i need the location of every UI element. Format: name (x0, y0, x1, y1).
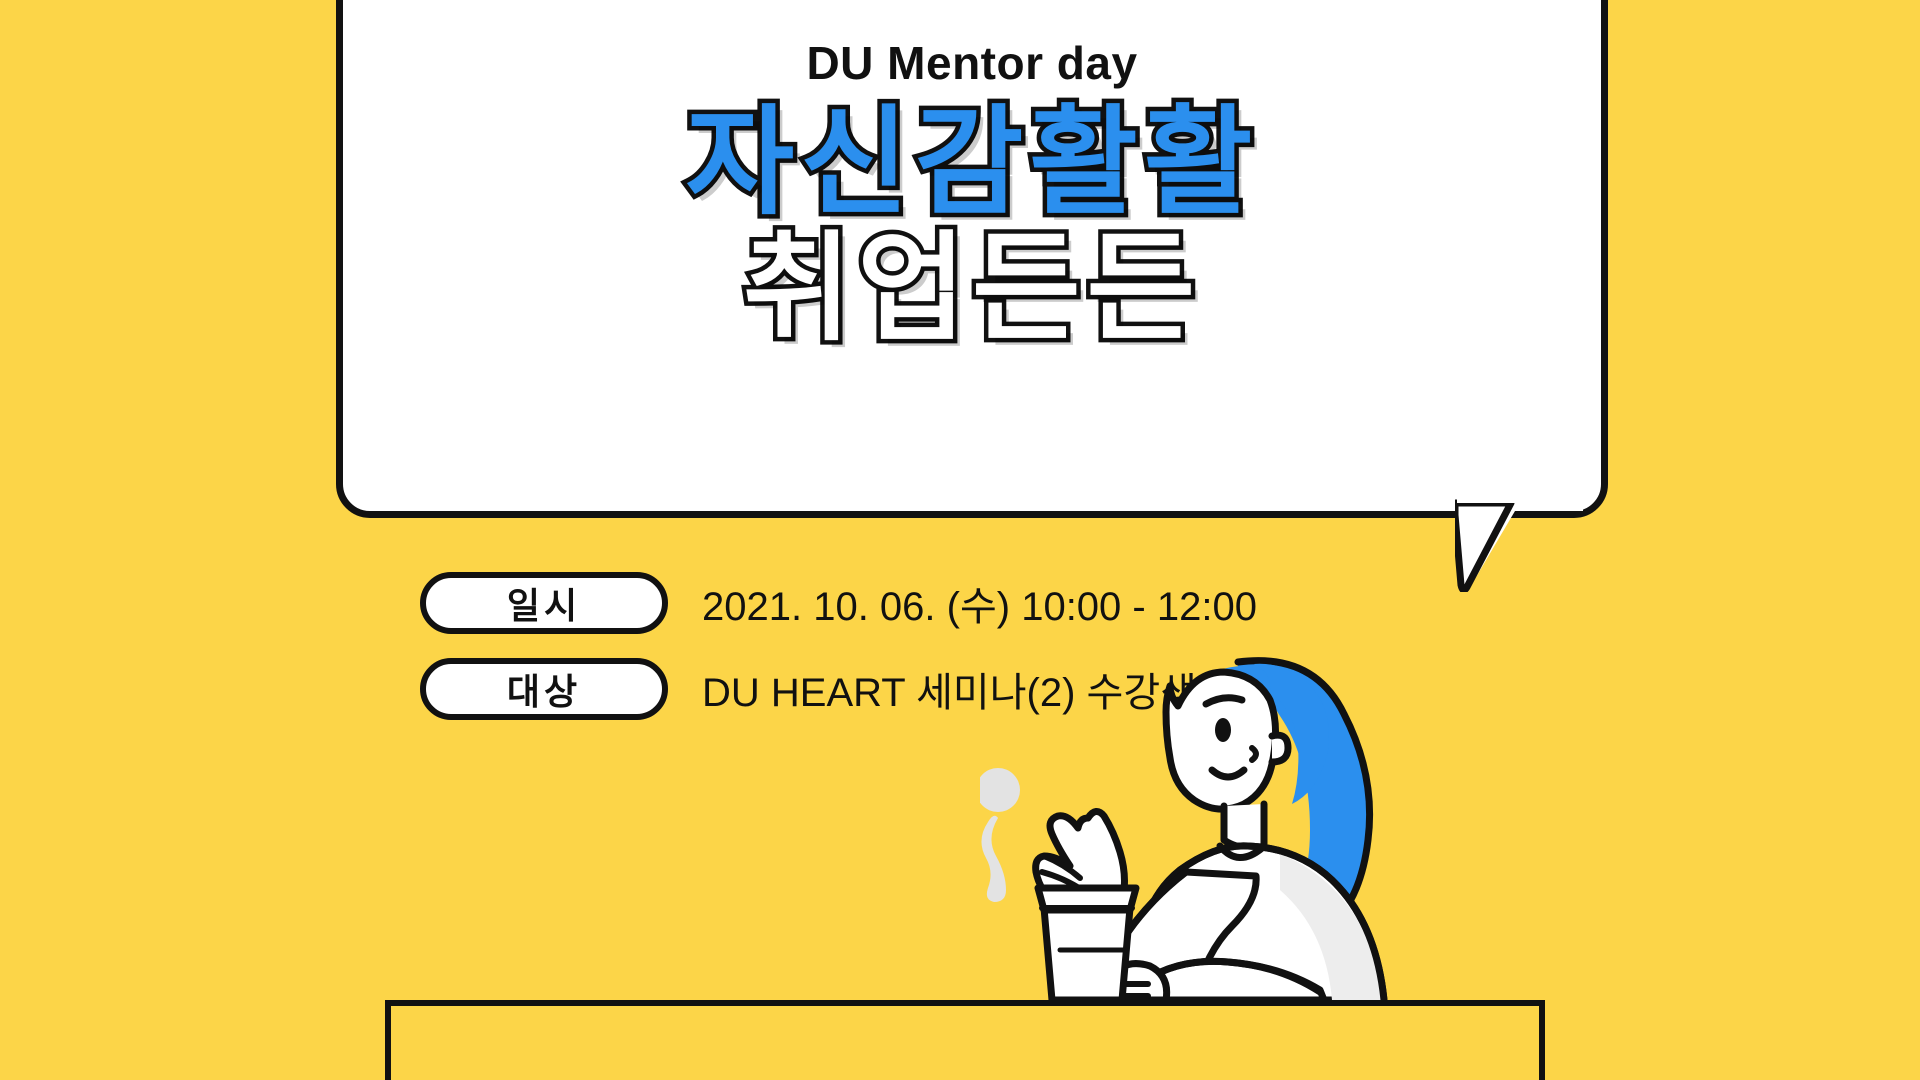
speech-bubble (336, 0, 1608, 518)
steam-upper-dot (980, 768, 1020, 812)
neck (1224, 804, 1264, 848)
info-label-date: 일시 (420, 572, 668, 634)
poster-canvas: DU Mentor day 자신감활활 취업든든 일시 2021. 10. 06… (0, 0, 1920, 1080)
info-label-audience: 대상 (420, 658, 668, 720)
woman-with-coffee-illustration (980, 640, 1480, 1000)
steam-lower (981, 816, 1006, 902)
bottom-content-frame (385, 1000, 1545, 1080)
ear (1272, 735, 1288, 762)
info-row-date: 일시 2021. 10. 06. (수) 10:00 - 12:00 (420, 572, 1257, 634)
eye (1215, 718, 1231, 742)
info-value-date: 2021. 10. 06. (수) 10:00 - 12:00 (702, 574, 1257, 632)
coffee-cup-body (1044, 908, 1130, 1000)
speech-bubble-tail (1455, 497, 1585, 592)
